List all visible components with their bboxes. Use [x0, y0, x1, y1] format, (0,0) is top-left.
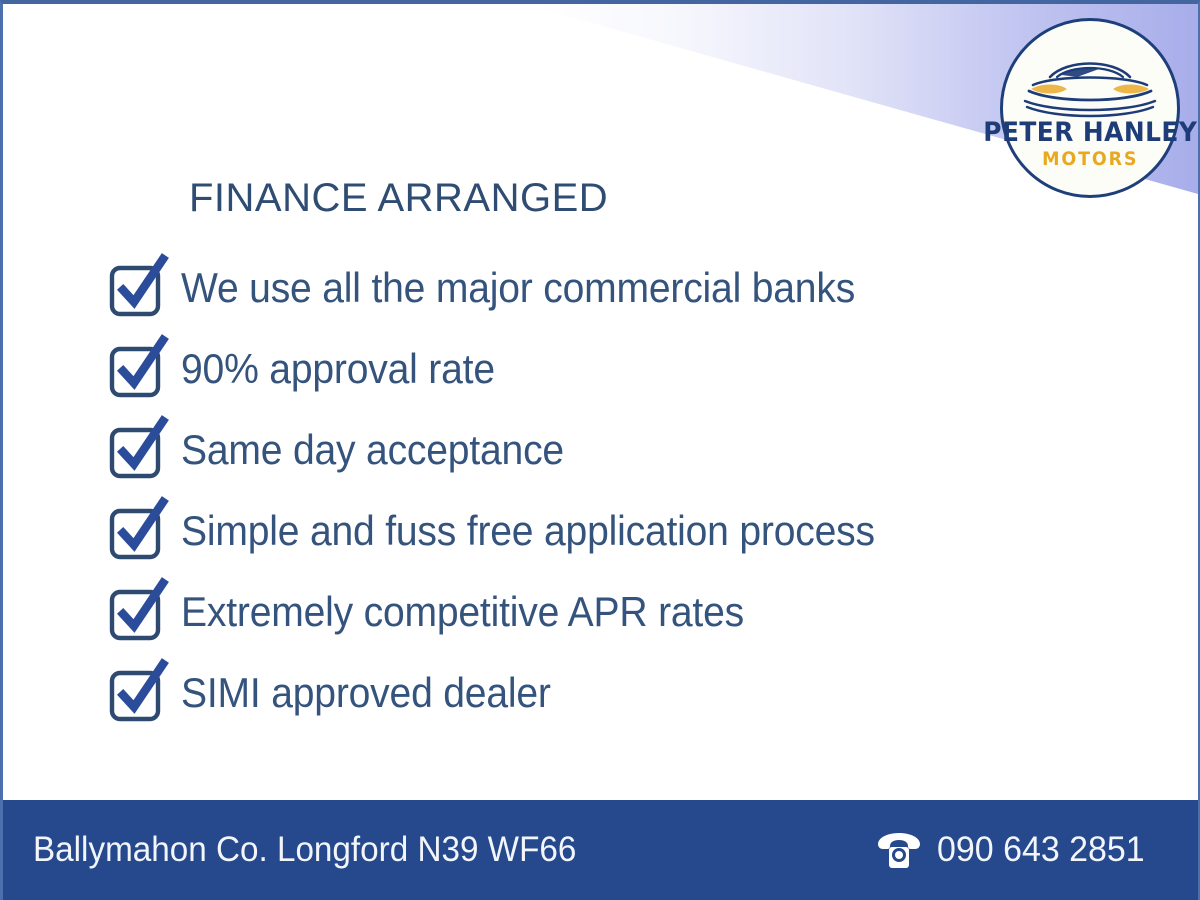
list-item: 90% approval rate: [107, 328, 1107, 409]
footer-address: Ballymahon Co. Longford N39 WF66: [33, 830, 576, 870]
list-item-label: SIMI approved dealer: [181, 669, 551, 717]
list-item: We use all the major commercial banks: [107, 247, 1107, 328]
page-title: FINANCE ARRANGED: [189, 176, 608, 221]
checkbox-checked-icon: [107, 257, 169, 319]
logo-brand-subtitle: MOTORS: [1042, 150, 1138, 169]
logo-brand-name: PETER HANLEY: [983, 119, 1197, 146]
peter-hanley-motors-logo[interactable]: PETER HANLEY MOTORS: [1000, 18, 1180, 198]
finance-arranged-poster: PETER HANLEY MOTORS FINANCE ARRANGED We …: [0, 0, 1200, 900]
list-item: Simple and fuss free application process: [107, 490, 1107, 571]
footer-phone-number: 090 643 2851: [937, 830, 1145, 870]
list-item-label: Same day acceptance: [181, 426, 564, 474]
checkbox-checked-icon: [107, 581, 169, 643]
checkbox-checked-icon: [107, 500, 169, 562]
car-front-icon: [1015, 47, 1165, 121]
list-item: SIMI approved dealer: [107, 652, 1107, 733]
list-item-label: Simple and fuss free application process: [181, 507, 875, 555]
list-item: Same day acceptance: [107, 409, 1107, 490]
checkbox-checked-icon: [107, 419, 169, 481]
list-item-label: We use all the major commercial banks: [181, 264, 855, 312]
checkbox-checked-icon: [107, 662, 169, 724]
footer-bar: Ballymahon Co. Longford N39 WF66 090 643…: [3, 800, 1198, 900]
telephone-icon: [877, 831, 921, 869]
list-item-label: Extremely competitive APR rates: [181, 588, 744, 636]
footer-phone-block[interactable]: 090 643 2851: [877, 830, 1151, 870]
list-item-label: 90% approval rate: [181, 345, 495, 393]
checkbox-checked-icon: [107, 338, 169, 400]
list-item: Extremely competitive APR rates: [107, 571, 1107, 652]
benefits-checklist: We use all the major commercial banks 90…: [107, 247, 1107, 733]
